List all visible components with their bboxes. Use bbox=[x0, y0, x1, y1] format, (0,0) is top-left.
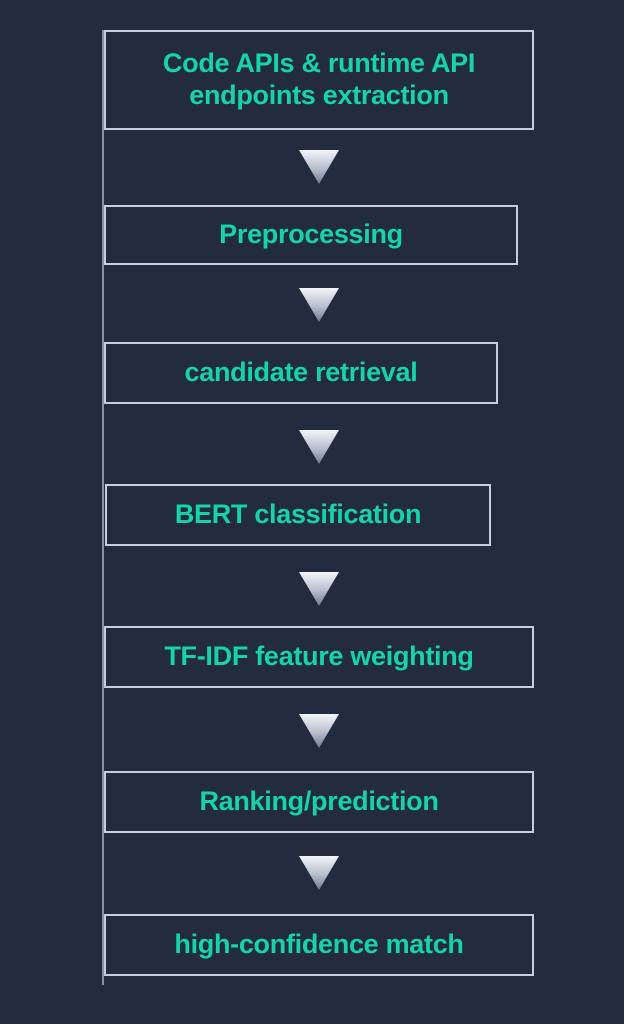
flow-node-bert-classification[interactable]: BERT classification bbox=[105, 484, 491, 546]
flow-node-label: Ranking/prediction bbox=[189, 786, 448, 818]
flow-node-label: high-confidence match bbox=[164, 929, 473, 961]
flowchart-diagram: Code APIs & runtime API endpoints extrac… bbox=[0, 0, 624, 1024]
flow-node-high-confidence-match[interactable]: high-confidence match bbox=[104, 914, 534, 976]
down-arrow-icon bbox=[299, 572, 339, 606]
flow-node-tfidf-feature-weighting[interactable]: TF-IDF feature weighting bbox=[104, 626, 534, 688]
connector-rail bbox=[102, 30, 104, 985]
down-arrow-icon bbox=[299, 150, 339, 184]
flow-node-label: candidate retrieval bbox=[175, 357, 428, 389]
down-arrow-icon bbox=[299, 714, 339, 748]
down-arrow-icon bbox=[299, 430, 339, 464]
flow-node-label: BERT classification bbox=[165, 499, 431, 531]
down-arrow-icon bbox=[299, 288, 339, 322]
flow-node-label: Code APIs & runtime API endpoints extrac… bbox=[153, 48, 485, 112]
flow-node-ranking-prediction[interactable]: Ranking/prediction bbox=[104, 771, 534, 833]
flow-node-preprocessing[interactable]: Preprocessing bbox=[104, 205, 518, 265]
flow-node-candidate-retrieval[interactable]: candidate retrieval bbox=[104, 342, 498, 404]
down-arrow-icon bbox=[299, 856, 339, 890]
flow-node-label: Preprocessing bbox=[209, 219, 413, 251]
flow-node-code-apis-extraction[interactable]: Code APIs & runtime API endpoints extrac… bbox=[104, 30, 534, 130]
flow-node-label: TF-IDF feature weighting bbox=[154, 641, 483, 673]
